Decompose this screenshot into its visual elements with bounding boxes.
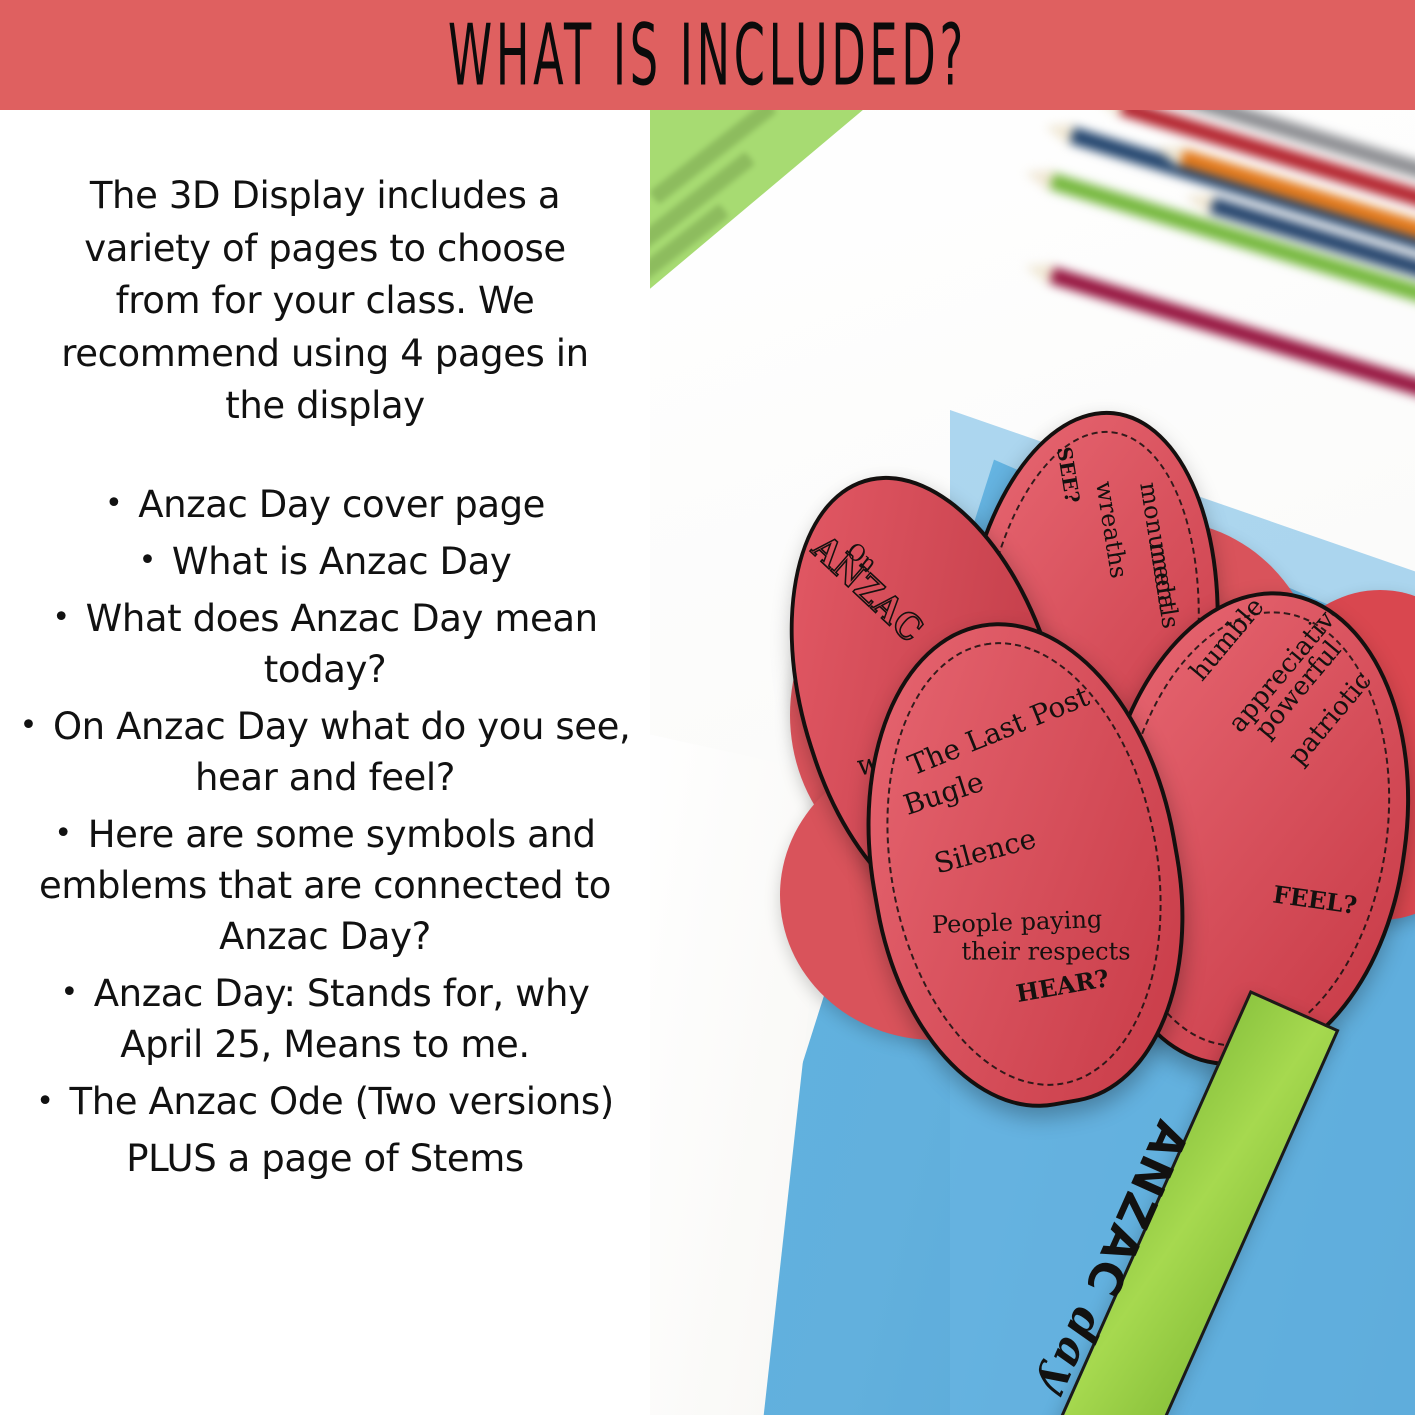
- list-item: •What does Anzac Day mean today?: [14, 593, 636, 695]
- list-item: •What is Anzac Day: [14, 536, 636, 587]
- pencil-tip-icon: [1182, 186, 1215, 215]
- bullet-icon: •: [60, 975, 93, 1010]
- list-item: •On Anzac Day what do you see, hear and …: [14, 701, 636, 803]
- list-item-label: The Anzac Ode (Two versions): [70, 1080, 614, 1123]
- list-item: •Anzac Day: Stands for, why April 25, Me…: [14, 968, 636, 1070]
- intro-paragraph: The 3D Display includes a variety of pag…: [38, 170, 612, 433]
- list-item-label: Anzac Day: Stands for, why April 25, Mea…: [94, 972, 590, 1066]
- footer-line: PLUS a page of Stems: [14, 1133, 636, 1184]
- list-item-label: What does Anzac Day mean today?: [86, 597, 598, 691]
- pencil-tip-icon: [1092, 110, 1125, 117]
- list-item-label: Anzac Day cover page: [138, 483, 545, 526]
- list-item: •Here are some symbols and emblems that …: [14, 809, 636, 962]
- list-item-label: What is Anzac Day: [172, 540, 512, 583]
- bullet-icon: •: [52, 600, 85, 635]
- product-photo: A d Lest that SEE? wreaths monument meda…: [650, 110, 1415, 1415]
- page-title: WHAT IS INCLUDED?: [448, 13, 967, 98]
- list-item: •Anzac Day cover page: [14, 479, 636, 530]
- bullet-icon: •: [54, 816, 87, 851]
- petal-hear-line5: their respects: [962, 937, 1131, 965]
- petal-hear-line4: People paying: [932, 905, 1103, 939]
- poppy-craft: A d Lest that SEE? wreaths monument meda…: [690, 290, 1415, 1190]
- header-banner: WHAT IS INCLUDED?: [0, 0, 1415, 110]
- description-panel: The 3D Display includes a variety of pag…: [0, 110, 650, 1415]
- list-item-label: Here are some symbols and emblems that a…: [39, 813, 611, 958]
- slide-page: WHAT IS INCLUDED? The 3D Display include…: [0, 0, 1415, 1415]
- list-item: •The Anzac Ode (Two versions): [14, 1076, 636, 1127]
- bullet-icon: •: [139, 543, 172, 578]
- list-item-label: On Anzac Day what do you see, hear and f…: [53, 705, 630, 799]
- included-items-list: •Anzac Day cover page •What is Anzac Day…: [14, 479, 636, 1128]
- bullet-icon: •: [20, 708, 53, 743]
- bullet-icon: •: [36, 1084, 69, 1119]
- bullet-icon: •: [105, 486, 138, 521]
